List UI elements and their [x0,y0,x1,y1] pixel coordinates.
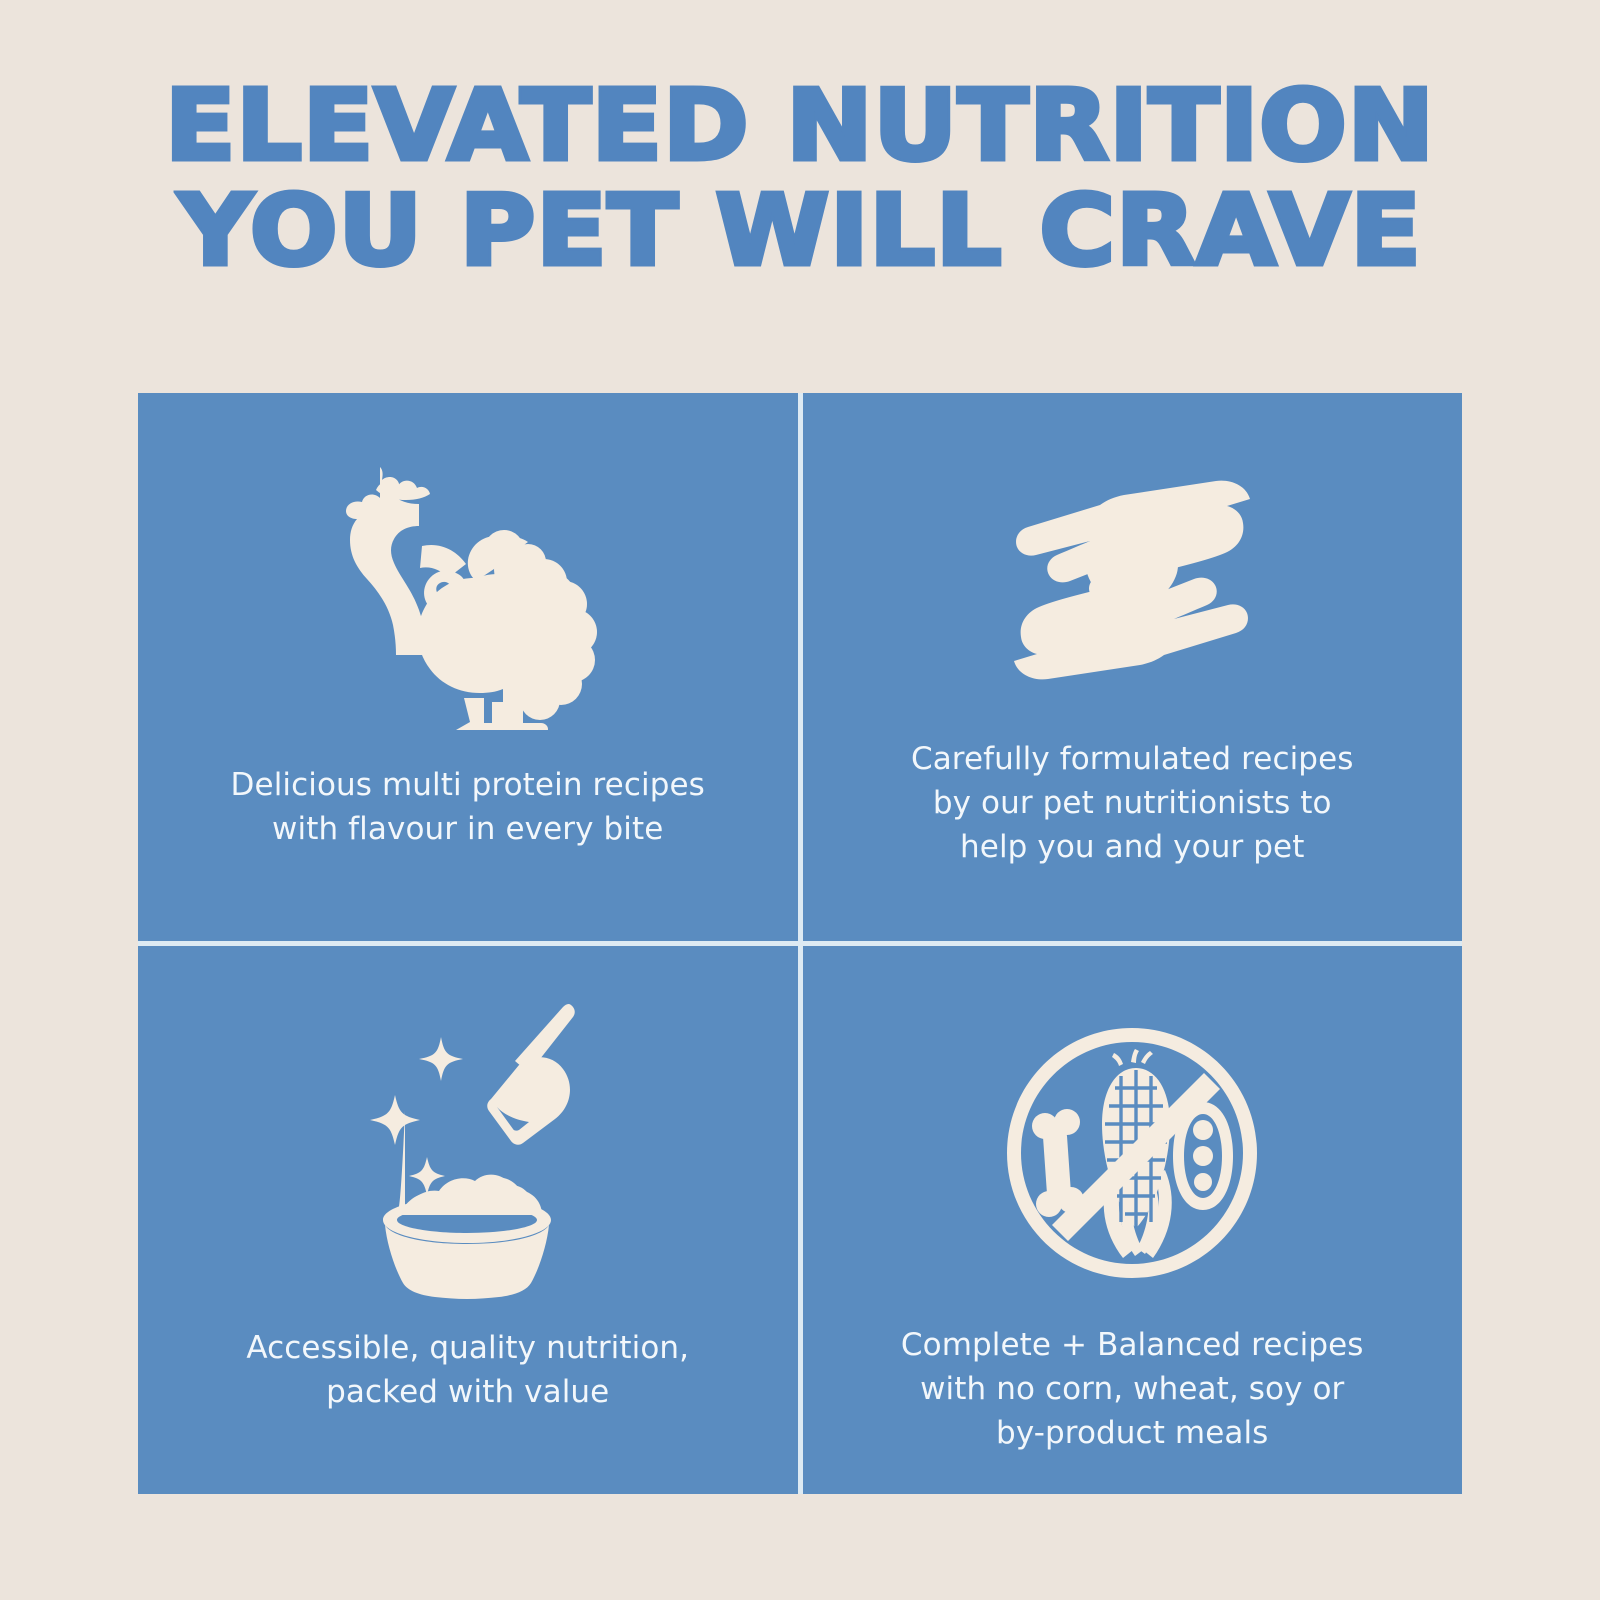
feature-caption: Accessible, quality nutrition, packed wi… [164,1326,771,1414]
feature-panel-value: Accessible, quality nutrition, packed wi… [138,946,798,1494]
feature-grid: Delicious multi protein recipes with fla… [138,393,1462,1494]
chicken-turkey-icon [138,445,798,735]
page-title-line-1: ELEVATED NUTRITION [0,78,1600,173]
page-title-line-2: YOU PET WILL CRAVE [0,183,1600,278]
feature-panel-formulated: Carefully formulated recipes by our pet … [803,393,1463,941]
feature-caption: Carefully formulated recipes by our pet … [829,737,1436,869]
feature-caption: Complete + Balanced recipes with no corn… [829,1323,1436,1455]
no-corn-wheat-soy-icon [803,1026,1463,1281]
feature-panel-no-fillers: Complete + Balanced recipes with no corn… [803,946,1463,1494]
feature-panel-multi-protein: Delicious multi protein recipes with fla… [138,393,798,941]
feature-caption: Delicious multi protein recipes with fla… [164,763,771,851]
page-title: ELEVATED NUTRITION YOU PET WILL CRAVE [0,78,1600,278]
bowl-scoop-sparkles-icon [138,994,798,1304]
infographic-page: ELEVATED NUTRITION YOU PET WILL CRAVE [0,0,1600,1600]
hands-heart-icon [803,455,1463,705]
